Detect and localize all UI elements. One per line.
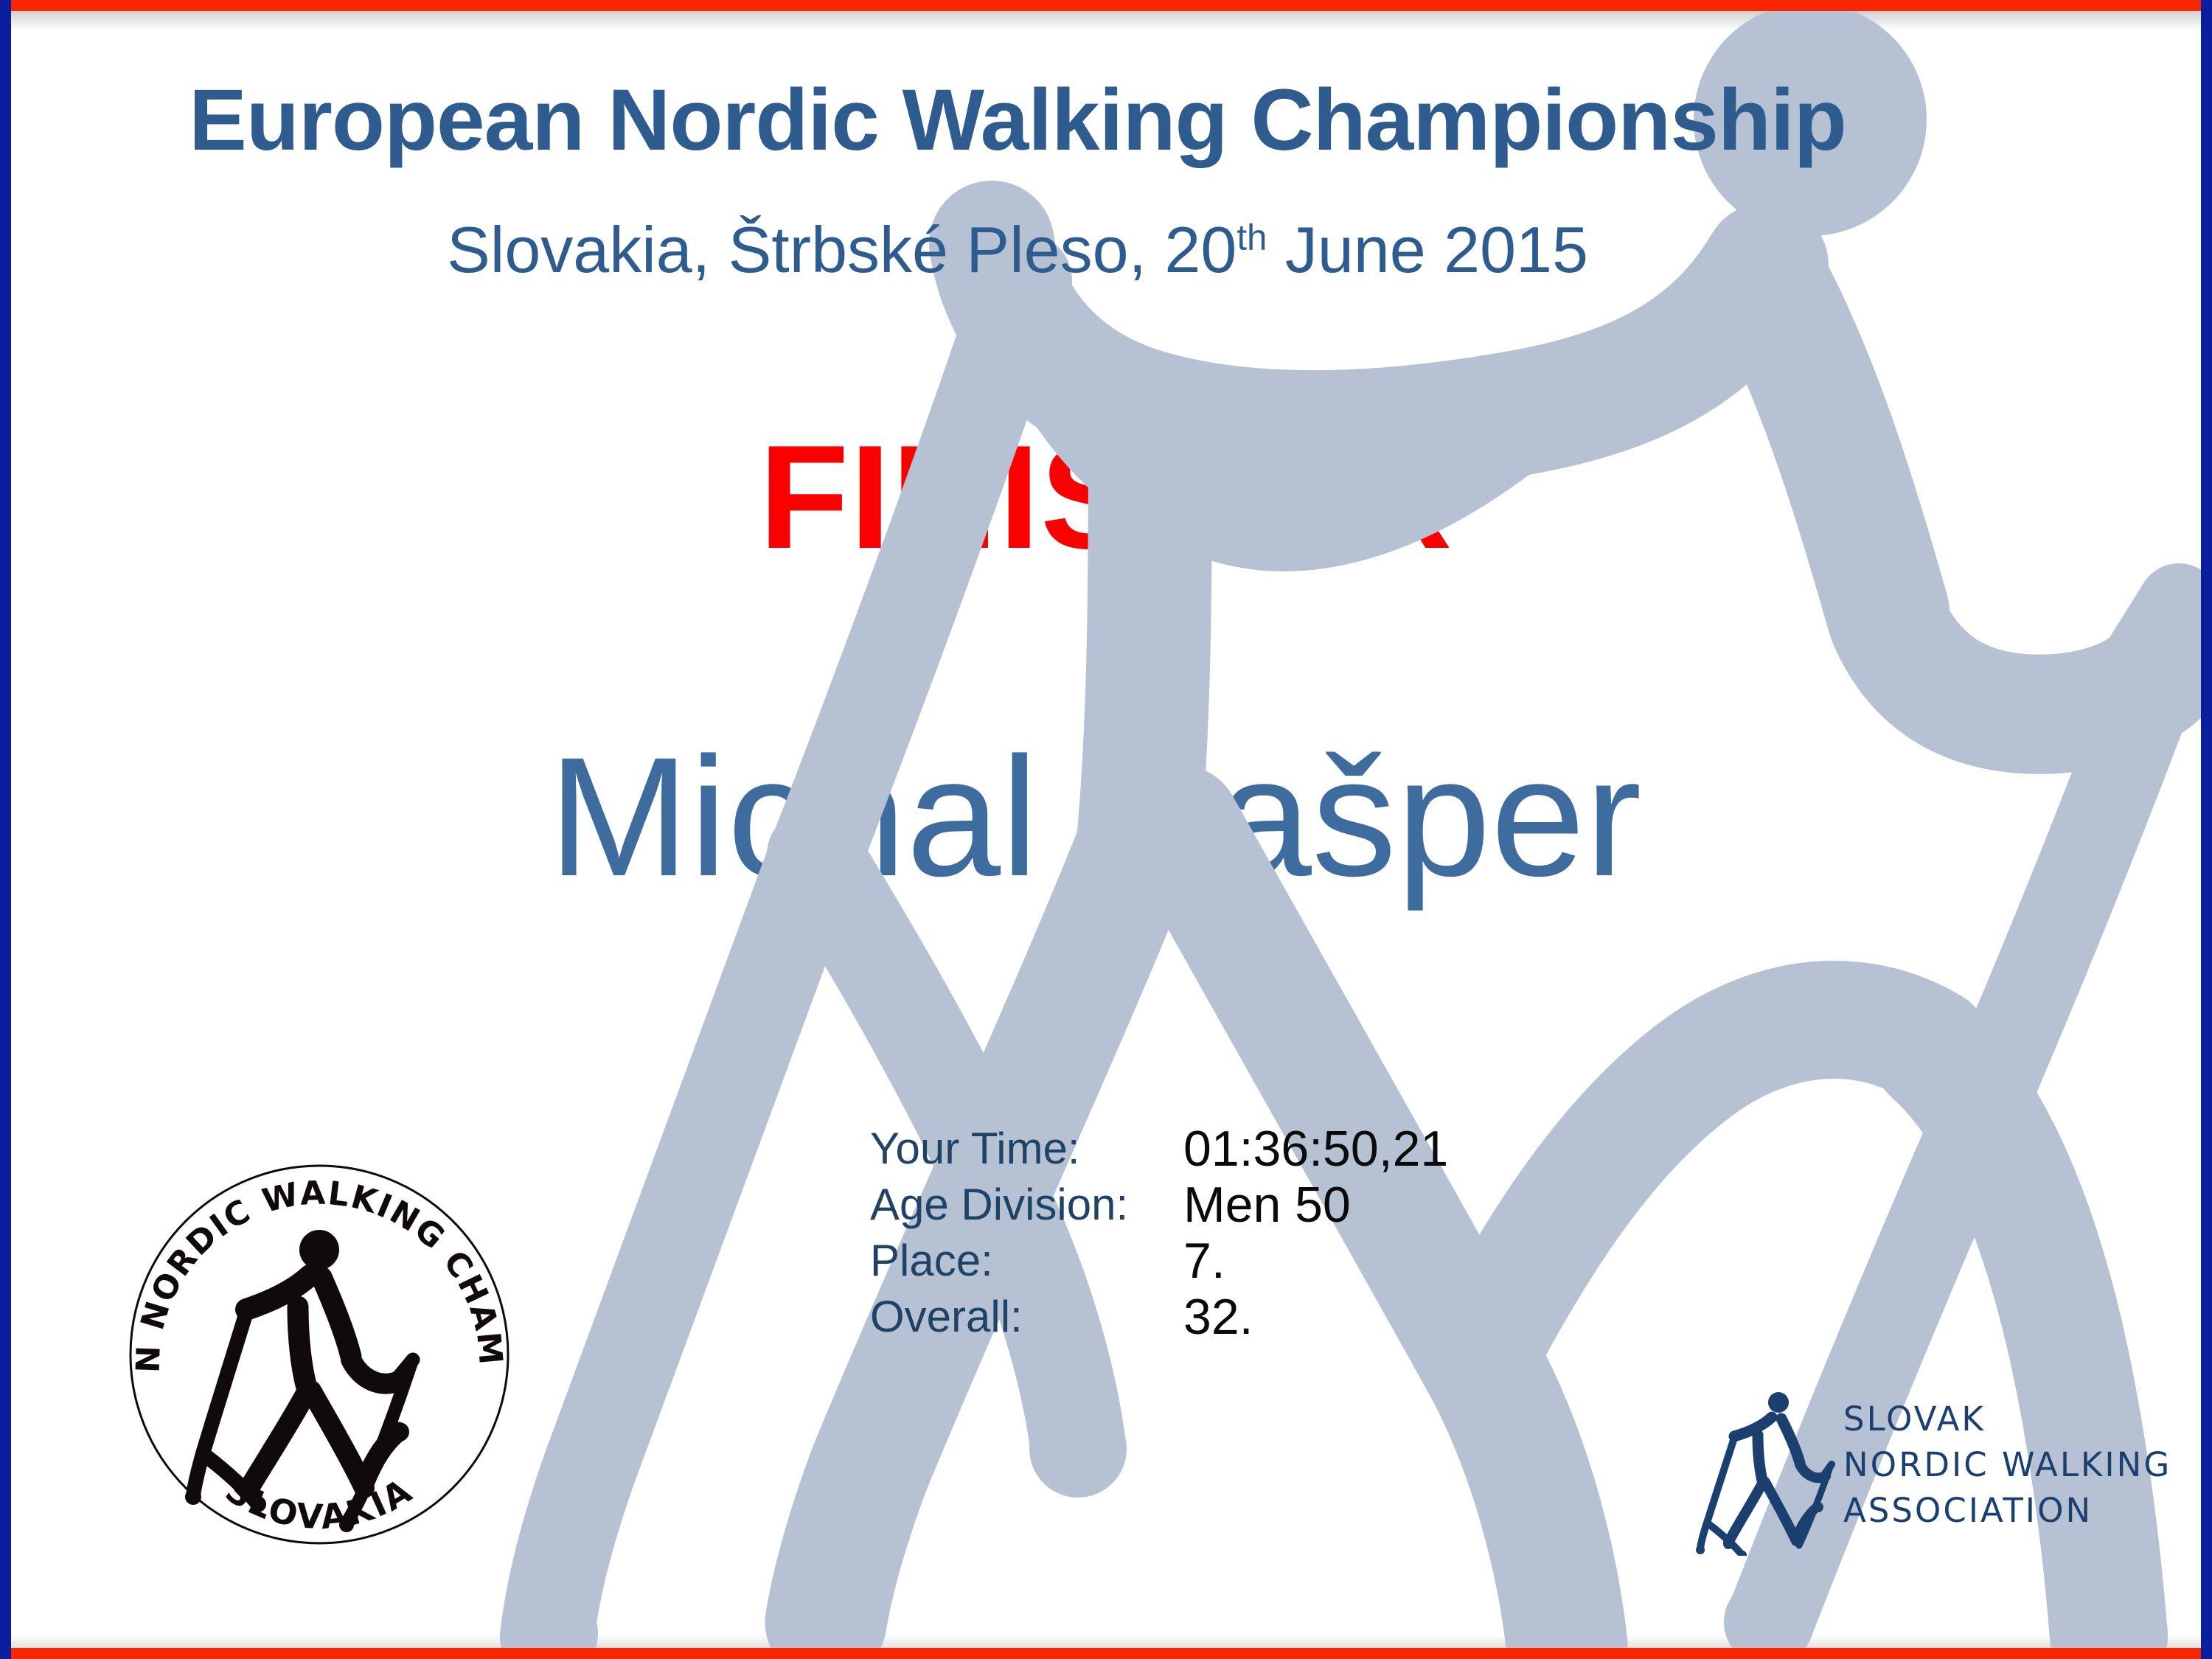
result-value-overall: 32.: [1183, 1289, 1253, 1345]
nordic-walker-icon: [1696, 1386, 1836, 1556]
association-logo: SLOVAK NORDIC WALKING ASSOCIATION: [1696, 1386, 2131, 1556]
association-line-3: ASSOCIATION: [1843, 1488, 2171, 1534]
event-subtitle: Slovakia, Štrbské Pleso, 20th June 2015: [0, 212, 2035, 288]
association-line-2: NORDIC WALKING: [1843, 1442, 2171, 1488]
result-label-age-division: Age Division:: [870, 1177, 1183, 1233]
results-block: Your Time:01:36:50,21 Age Division:Men 5…: [870, 1121, 1448, 1345]
results-row: Place:7.: [870, 1233, 1448, 1289]
results-row: Age Division:Men 50: [870, 1177, 1448, 1233]
results-row: Your Time:01:36:50,21: [870, 1121, 1448, 1177]
association-name: SLOVAK NORDIC WALKING ASSOCIATION: [1843, 1397, 2171, 1534]
finisher-certificate: FINISHER Michal Gašper: [0, 0, 2212, 1659]
event-logo-ring: [131, 1166, 508, 1543]
event-location-date: Slovakia, Štrbské Pleso, 20: [447, 213, 1237, 286]
result-label-place: Place:: [870, 1233, 1183, 1289]
event-logo: EUROPEAN NORDIC WALKING CHAMPIONSHIP SLO…: [124, 1159, 515, 1550]
result-label-your-time: Your Time:: [870, 1121, 1183, 1177]
border-bar-left: [0, 0, 11, 1659]
result-value-your-time: 01:36:50,21: [1183, 1121, 1448, 1177]
result-value-age-division: Men 50: [1183, 1177, 1351, 1233]
border-bar-top: [0, 0, 2212, 11]
page-title: European Nordic Walking Championship: [0, 70, 2035, 170]
event-date-rest: June 2015: [1267, 213, 1588, 286]
result-value-place: 7.: [1183, 1233, 1225, 1289]
border-bar-bottom: [0, 1648, 2212, 1659]
result-label-overall: Overall:: [870, 1289, 1183, 1345]
ordinal-suffix: th: [1237, 218, 1267, 258]
association-line-1: SLOVAK: [1843, 1397, 2171, 1442]
results-row: Overall:32.: [870, 1289, 1448, 1345]
border-bar-right: [2201, 0, 2212, 1659]
